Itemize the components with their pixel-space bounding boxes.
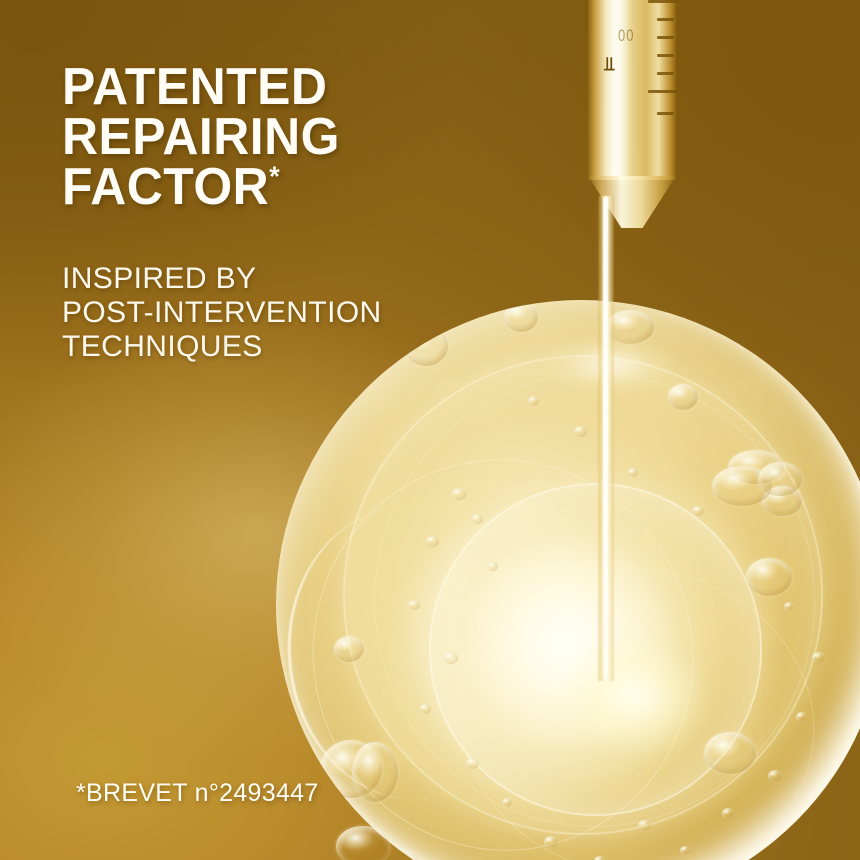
- bubble: [796, 712, 807, 722]
- bubble: [488, 562, 498, 571]
- bubble: [452, 488, 466, 500]
- pipette-graduation-mark: [648, 90, 678, 93]
- bubble: [594, 856, 605, 860]
- bubble: [528, 396, 539, 406]
- bubble: [408, 600, 420, 610]
- bubble: [574, 426, 587, 437]
- bubble: [722, 808, 734, 819]
- pipette-graduation-mark: [657, 72, 674, 75]
- pipette-graduation-mark: [657, 18, 674, 21]
- subheadline: INSPIRED BY POST-INTERVENTION TECHNIQUES: [62, 262, 382, 364]
- footnote-patent: *BREVET n°2493447: [76, 779, 319, 808]
- pipette-graduation-mark: [657, 36, 674, 39]
- bubble: [544, 836, 558, 848]
- headline-asterisk: *: [269, 161, 280, 192]
- oil-serum-key-visual: 00 ⫫ PATENTED REPAIRING FACTOR* INSPIRED…: [0, 0, 860, 860]
- bubble: [426, 536, 439, 547]
- bubble: [758, 462, 802, 496]
- bubble: [444, 652, 458, 664]
- bubble: [704, 732, 756, 774]
- bubble: [812, 652, 825, 663]
- pipette-graduation-mark: [657, 112, 674, 115]
- bubble: [504, 302, 538, 332]
- bubble: [466, 758, 479, 769]
- pipette-graduation-mark: [657, 54, 674, 57]
- pipette-barrel-mark: ⫫: [604, 56, 626, 74]
- bubble: [692, 506, 704, 516]
- bubble: [352, 742, 398, 802]
- bubble: [404, 326, 448, 366]
- headline: PATENTED REPAIRING FACTOR*: [62, 62, 340, 212]
- bubble: [420, 704, 431, 714]
- bubble: [628, 468, 638, 477]
- bubble: [784, 602, 794, 611]
- pipette-graduation-mark: [648, 0, 678, 3]
- pipette: 00 ⫫: [580, 0, 684, 226]
- bubble: [680, 846, 690, 855]
- bubble: [472, 514, 483, 524]
- pipette-barrel-number: 00: [618, 26, 634, 45]
- bubble: [336, 826, 390, 860]
- bubble: [502, 798, 512, 807]
- bubble: [638, 820, 651, 831]
- bubble: [334, 636, 364, 662]
- bubble: [768, 770, 782, 782]
- headline-text: PATENTED REPAIRING FACTOR: [62, 58, 340, 216]
- bubble: [746, 558, 792, 596]
- oil-stream-core: [603, 198, 608, 676]
